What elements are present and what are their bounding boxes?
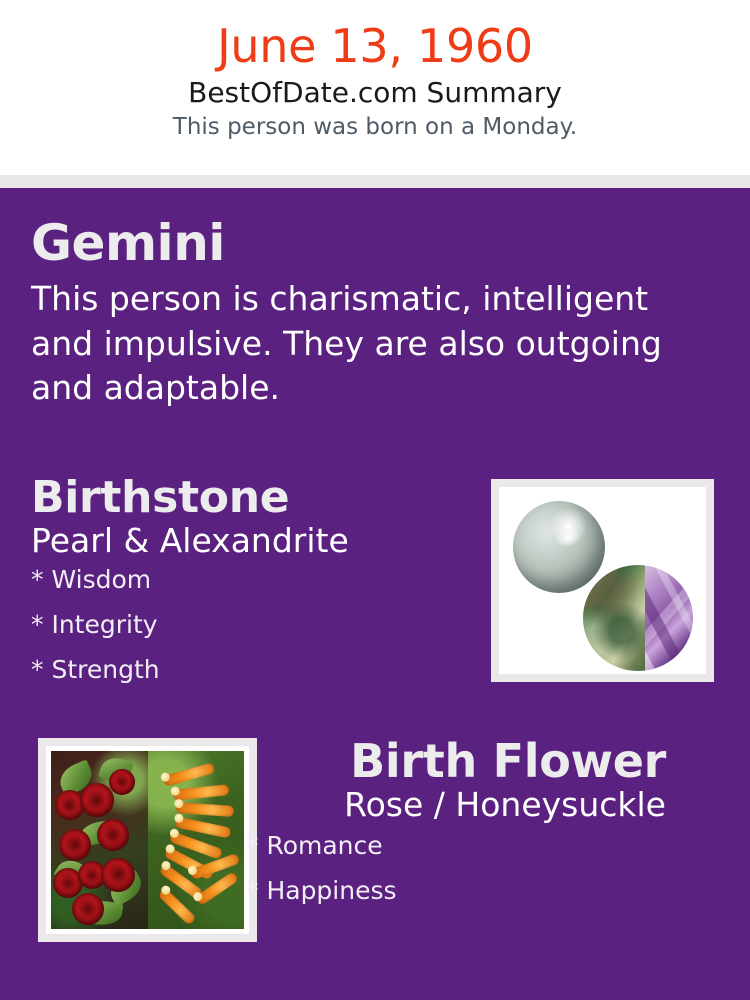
zodiac-description: This person is charismatic, intelligent …: [31, 269, 691, 411]
birthflower-image-frame: [38, 738, 257, 942]
alexandrite-faceted-half: [645, 565, 693, 671]
birthstone-title: Birthstone: [31, 476, 471, 520]
birthstone-image-frame: [491, 479, 714, 682]
alexandrite-rough-half: [583, 565, 645, 671]
list-item: * Happiness: [246, 878, 666, 923]
card-body: Gemini This person is charismatic, intel…: [0, 188, 750, 1000]
list-item: * Romance: [246, 833, 666, 878]
roses-photo-half: [51, 751, 148, 929]
list-item: * Wisdom: [31, 567, 471, 612]
zodiac-sign-name: Gemini: [31, 218, 701, 269]
birthflower-image: [51, 751, 244, 929]
birthflower-title: Birth Flower: [246, 738, 666, 784]
card-header: June 13, 1960 BestOfDate.com Summary Thi…: [0, 0, 750, 175]
list-item: * Integrity: [31, 612, 471, 657]
born-weekday-note: This person was born on a Monday.: [0, 109, 750, 140]
birthstone-names: Pearl & Alexandrite: [31, 520, 471, 559]
site-summary-label: BestOfDate.com Summary: [0, 70, 750, 109]
header-divider: [0, 175, 750, 188]
alexandrite-gem-icon: [583, 565, 693, 671]
birthflower-traits-list: * Romance * Happiness: [246, 823, 666, 923]
zodiac-section: Gemini This person is charismatic, intel…: [31, 218, 701, 411]
birthflower-section: Birth Flower Rose / Honeysuckle * Romanc…: [246, 738, 666, 923]
birthflower-names: Rose / Honeysuckle: [246, 784, 666, 823]
summary-card: June 13, 1960 BestOfDate.com Summary Thi…: [0, 0, 750, 1000]
honeysuckle-photo-half: [148, 751, 245, 929]
birthstone-section: Birthstone Pearl & Alexandrite * Wisdom …: [31, 476, 471, 702]
page-title-date: June 13, 1960: [0, 0, 750, 70]
birthstone-image: [499, 487, 706, 674]
birthstone-traits-list: * Wisdom * Integrity * Strength: [31, 559, 471, 702]
list-item: * Strength: [31, 657, 471, 702]
